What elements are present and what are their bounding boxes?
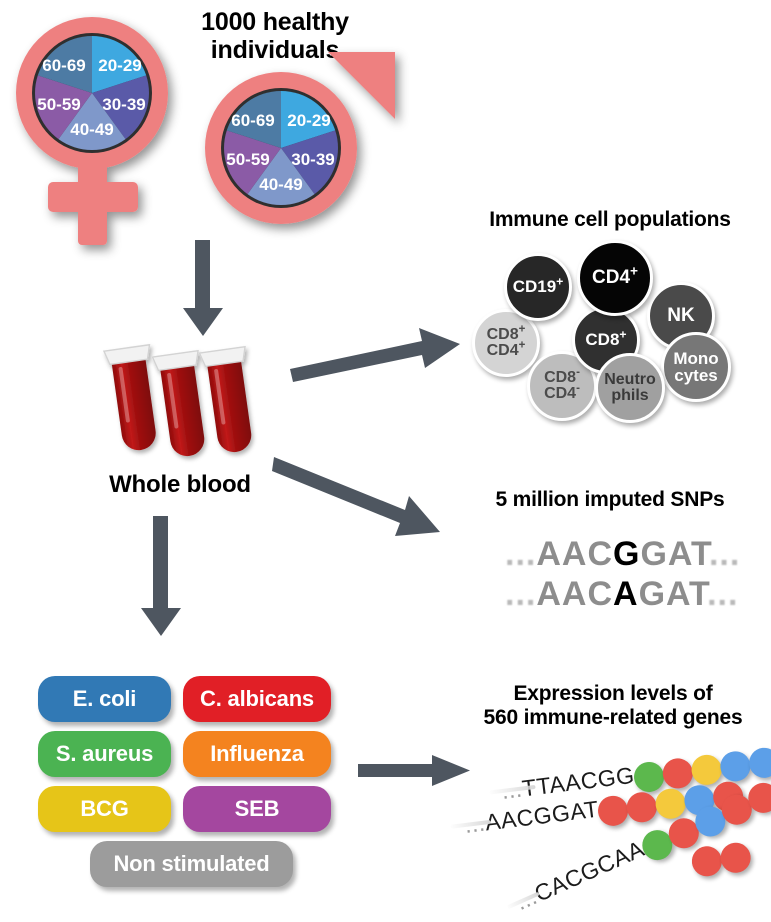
cell-label: CD8+ <box>585 331 626 348</box>
pie-label-40-49: 40-49 <box>259 175 302 194</box>
dna-bead <box>717 790 757 830</box>
dna-bead <box>632 760 665 793</box>
snp-prefix: AAC <box>536 575 613 613</box>
dna-bead <box>747 746 771 779</box>
dna-bead <box>711 780 744 813</box>
cell-cd8p-cd4p: CD8+CD4+ <box>472 309 540 377</box>
dna-bead <box>690 802 730 842</box>
dna-bead <box>743 778 771 818</box>
dna-bead <box>654 787 687 820</box>
cell-monocytes: Monocytes <box>661 332 731 402</box>
stimulus-label: BCG <box>80 796 128 822</box>
snp-suffix: GAT <box>639 575 707 613</box>
dna-sequence: ...CACGCAA <box>512 835 649 915</box>
pie-label-60-69: 60-69 <box>231 111 274 130</box>
expression-title: Expression levels of 560 immune-related … <box>455 682 771 729</box>
stimulus-influenza[interactable]: Influenza <box>183 731 331 777</box>
dna-sequence: ...TTAACGG <box>500 762 636 804</box>
cell-label: Monocytes <box>673 350 718 385</box>
expression-title-line1: Expression levels of <box>455 682 771 706</box>
female-age-pie: 20-29 30-39 40-49 50-59 60-69 <box>32 33 152 153</box>
cell-label: CD19+ <box>513 278 564 295</box>
arrow-stimuli-to-expression <box>358 750 478 795</box>
pie-label-30-39: 30-39 <box>291 150 334 169</box>
stimulus-s-aureus[interactable]: S. aureus <box>38 731 171 777</box>
expression-title-line2: 560 immune-related genes <box>455 706 771 730</box>
cell-label: Neutrophils <box>604 372 656 405</box>
figure-canvas: 1000 healthy individuals <box>0 0 771 922</box>
stimulus-bcg[interactable]: BCG <box>38 786 171 832</box>
snp-allele-a: A <box>613 575 639 613</box>
snp-title: 5 million imputed SNPs <box>455 488 765 512</box>
male-symbol: 20-29 30-39 40-49 50-59 60-69 <box>195 40 405 240</box>
arrow-blood-to-immune <box>288 325 463 385</box>
blood-tube-2 <box>153 351 213 459</box>
cell-nk: NK <box>647 282 715 350</box>
dna-bead <box>683 783 716 816</box>
pie-label-20-29: 20-29 <box>287 111 330 130</box>
female-symbol: 20-29 30-39 40-49 50-59 60-69 <box>8 10 188 250</box>
snp-flank-left: ... <box>505 575 536 613</box>
stimulus-label: C. albicans <box>200 686 314 712</box>
dna-strand-1: ...TTAACGG <box>500 744 771 809</box>
stimulus-non-stimulated[interactable]: Non stimulated <box>90 841 293 887</box>
male-age-pie: 20-29 30-39 40-49 50-59 60-69 <box>221 88 341 208</box>
stimulus-label: Non stimulated <box>113 851 269 877</box>
dna-bead <box>596 794 629 827</box>
stimulus-label: S. aureus <box>56 741 153 767</box>
stimulus-label: E. coli <box>73 686 136 712</box>
snp-flank-right: ... <box>709 535 740 573</box>
cell-cd19: CD19+ <box>504 253 572 321</box>
dna-bead <box>690 845 723 878</box>
stimulus-label: SEB <box>235 796 280 822</box>
snp-flank-right: ... <box>707 575 738 613</box>
dna-bead <box>718 749 751 782</box>
stimulus-label: Influenza <box>210 741 304 767</box>
dna-sequence: ...AACGGAT <box>463 796 600 838</box>
snp-flank-left: ... <box>505 535 536 573</box>
pie-label-50-59: 50-59 <box>226 150 269 169</box>
pie-label-30-39: 30-39 <box>102 95 145 114</box>
cell-cd8: CD8+ <box>572 306 640 374</box>
pie-label-40-49: 40-49 <box>70 120 113 139</box>
cell-label: CD8-CD4- <box>544 370 580 403</box>
dna-bead <box>625 790 658 823</box>
snp-sequence-row-1: ...AACGGAT... <box>505 535 740 574</box>
dna-bead <box>661 757 694 790</box>
snp-prefix: AAC <box>536 535 613 573</box>
stimulus-c-albicans[interactable]: C. albicans <box>183 676 331 722</box>
dna-bead <box>637 825 677 865</box>
cell-cd4: CD4+ <box>577 240 653 316</box>
strand-backbone <box>507 892 540 909</box>
whole-blood-label: Whole blood <box>80 472 280 499</box>
arrow-blood-to-stimuli <box>136 516 186 641</box>
dna-bead <box>689 753 722 786</box>
cohort-title-line1: 1000 healthy <box>175 8 375 36</box>
blood-tubes-icon <box>95 340 285 475</box>
dna-bead <box>664 813 704 853</box>
arrow-cohort-to-blood <box>178 240 228 340</box>
blood-tube-3 <box>200 347 260 455</box>
arrow-blood-to-snps <box>272 448 447 543</box>
cell-label: CD8+CD4+ <box>487 327 526 360</box>
cell-label: NK <box>667 306 694 325</box>
stimulus-e-coli[interactable]: E. coli <box>38 676 171 722</box>
pie-label-60-69: 60-69 <box>42 56 85 75</box>
stimulus-seb[interactable]: SEB <box>183 786 331 832</box>
strand-backbone <box>451 820 491 829</box>
cell-cd8n-cd4n: CD8-CD4- <box>527 351 597 421</box>
snp-sequence-row-2: ...AACAGAT... <box>505 575 738 614</box>
pie-label-20-29: 20-29 <box>98 56 141 75</box>
dna-strand-3: ...CACGCAA <box>512 776 771 920</box>
snp-allele-g: G <box>613 535 640 573</box>
cell-neutrophils: Neutrophils <box>595 353 665 423</box>
immune-cell-title: Immune cell populations <box>455 208 765 232</box>
dna-bead <box>719 841 752 874</box>
snp-suffix: GAT <box>640 535 708 573</box>
cell-label: CD4+ <box>592 268 638 287</box>
pie-label-50-59: 50-59 <box>37 95 80 114</box>
dna-strand-2-tail <box>691 841 752 878</box>
strand-backbone <box>489 785 535 795</box>
dna-strand-2: ...AACGGAT <box>463 778 745 844</box>
